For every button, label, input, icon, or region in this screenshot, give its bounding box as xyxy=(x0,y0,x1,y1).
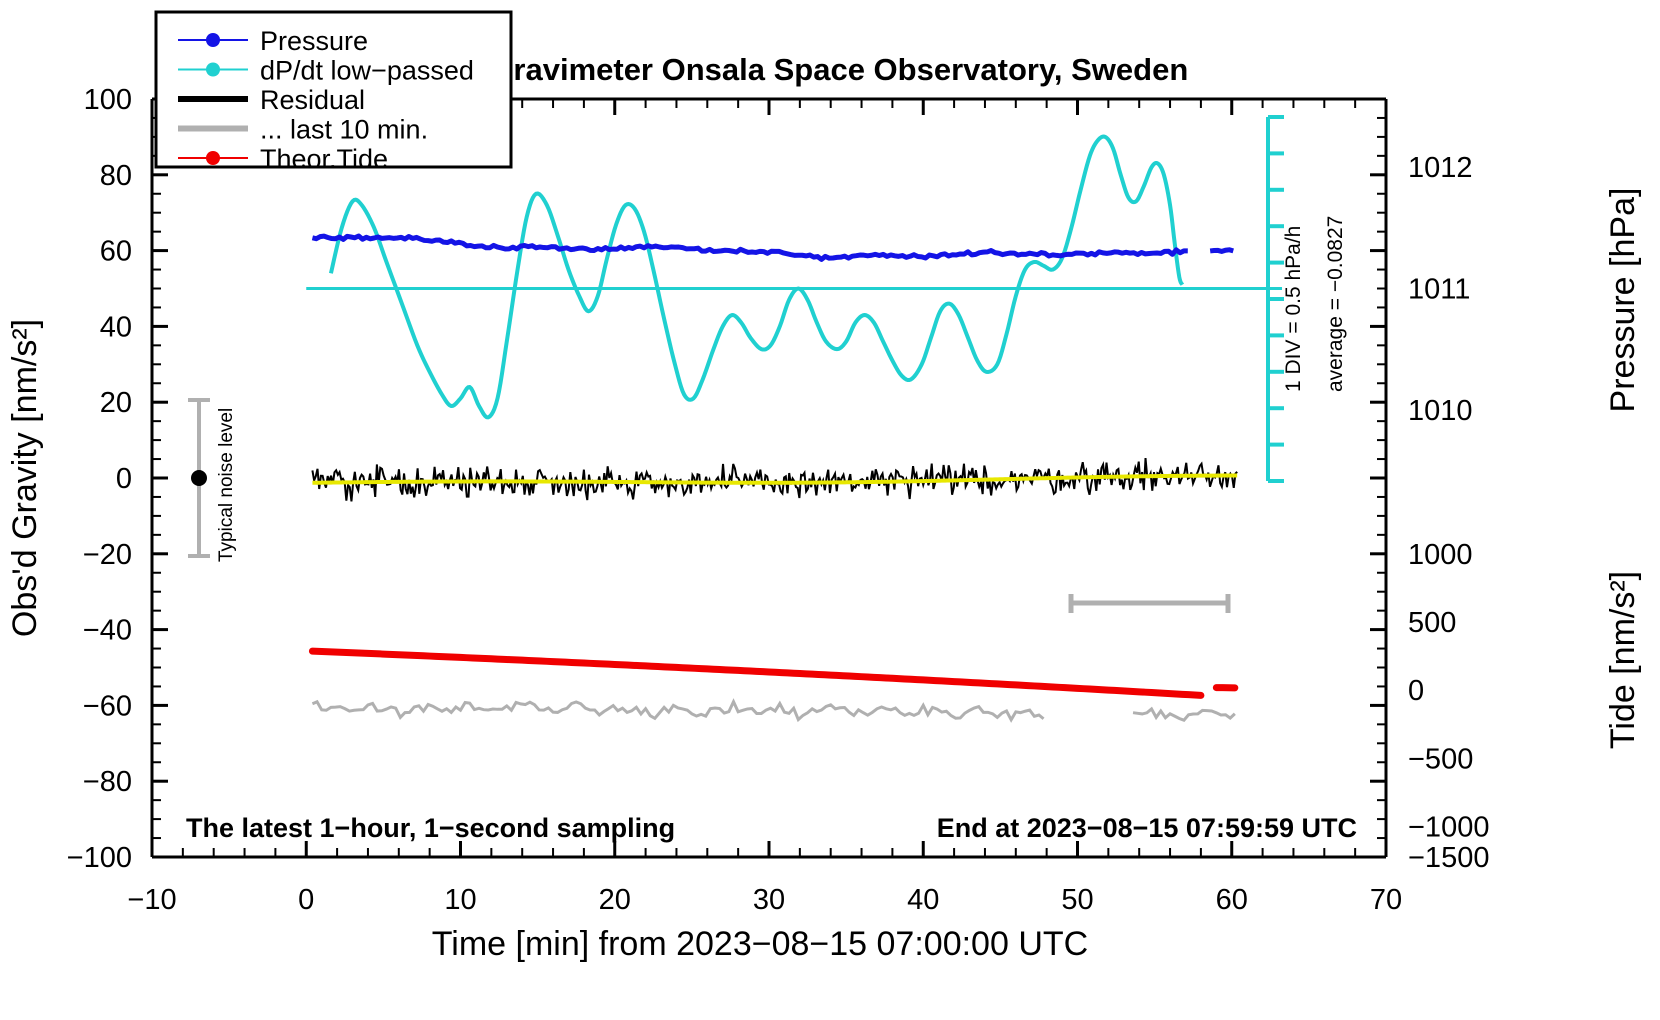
average-label: average = −0.0827 xyxy=(1324,216,1347,392)
tide-tick-label: −500 xyxy=(1408,743,1473,775)
y-tick-label: −80 xyxy=(83,766,132,798)
tide-tick-label: 1000 xyxy=(1408,539,1473,571)
y-tick-label: −60 xyxy=(83,690,132,722)
x-tick-label: 40 xyxy=(907,884,939,916)
legend-label: Pressure xyxy=(260,26,368,56)
x-tick-label: 30 xyxy=(753,884,785,916)
legend-label: Theor.Tide xyxy=(260,144,388,174)
pressure-axis-title: Pressure [hPa] xyxy=(1604,188,1642,413)
tide-tick-label: 500 xyxy=(1408,607,1456,639)
pressure-tick-label: 1012 xyxy=(1408,152,1473,184)
legend-marker-dot xyxy=(206,151,220,165)
x-tick-label: −10 xyxy=(127,884,176,916)
div-scale-label: 1 DIV = 0.5 hPa/h xyxy=(1282,226,1305,392)
tide-tick-label: 0 xyxy=(1408,675,1424,707)
y-tick-label: 100 xyxy=(84,84,132,116)
y-axis-title: Obs'd Gravity [nm/s²] xyxy=(6,319,44,637)
gravimeter-chart: −10010203040506070 100806040200−20−40−60… xyxy=(0,0,1660,1020)
legend-marker-dot xyxy=(206,63,220,77)
x-axis-title: Time [min] from 2023−08−15 07:00:00 UTC xyxy=(432,925,1088,963)
x-tick-label: 50 xyxy=(1061,884,1093,916)
pressure-series-tail xyxy=(1210,250,1233,252)
y-tick-label: 60 xyxy=(100,236,132,268)
legend-label: Residual xyxy=(260,85,365,115)
y-tick-label: 80 xyxy=(100,160,132,192)
x-tick-label: 10 xyxy=(444,884,476,916)
y-tick-label: −20 xyxy=(83,539,132,571)
tide-axis-title: Tide [nm/s²] xyxy=(1604,571,1642,749)
legend-label: dP/dt low−passed xyxy=(260,56,474,86)
y-tick-label: 0 xyxy=(116,463,132,495)
y-tick-label: −100 xyxy=(67,842,132,874)
y-tick-label: 20 xyxy=(100,387,132,419)
legend-marker-dot xyxy=(206,33,220,47)
legend-label: ... last 10 min. xyxy=(260,115,428,145)
x-tick-label: 0 xyxy=(298,884,314,916)
y-tick-label: −40 xyxy=(83,615,132,647)
y-tick-label: 40 xyxy=(100,311,132,343)
sampling-note: The latest 1−hour, 1−second sampling xyxy=(186,813,675,843)
legend[interactable]: PressuredP/dt low−passedResidual... last… xyxy=(156,12,511,174)
pressure-tick-label: 1010 xyxy=(1408,395,1473,427)
x-tick-label: 70 xyxy=(1370,884,1402,916)
tide-tick-label: −1000 xyxy=(1408,812,1489,844)
chart-page: −10010203040506070 100806040200−20−40−60… xyxy=(0,0,1660,1020)
typical-noise-level-label: Typical noise level xyxy=(216,408,237,562)
end-time-note: End at 2023−08−15 07:59:59 UTC xyxy=(937,813,1357,843)
tide-tick-label: −1500 xyxy=(1408,842,1489,874)
pressure-tick-label: 1011 xyxy=(1408,274,1470,306)
noise-center-dot xyxy=(191,470,207,486)
x-tick-label: 20 xyxy=(599,884,631,916)
x-tick-label: 60 xyxy=(1216,884,1248,916)
